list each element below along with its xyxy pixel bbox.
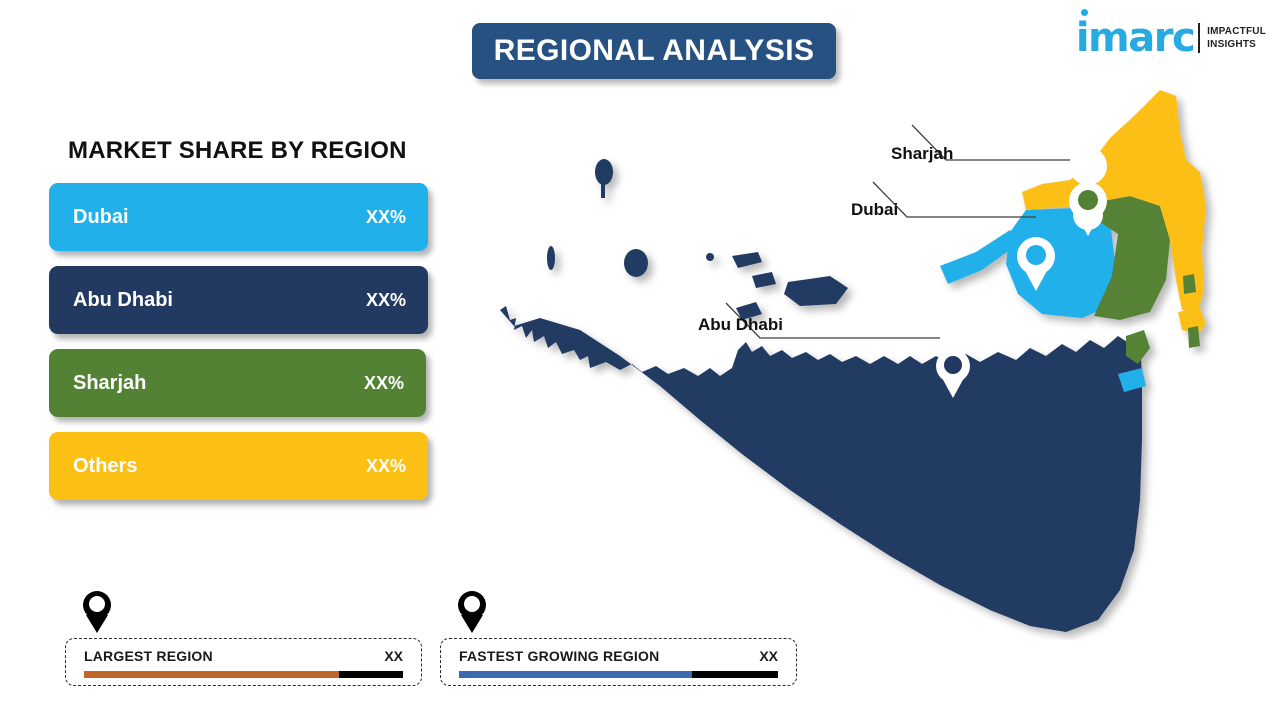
page-title-banner: REGIONAL ANALYSIS <box>472 23 836 79</box>
logo-dot-icon <box>1081 9 1088 16</box>
logo-divider <box>1198 23 1200 53</box>
location-pin-icon <box>456 590 488 634</box>
kpi-card[interactable]: FASTEST GROWING REGION XX <box>440 638 797 686</box>
kpi-fastest-growing-region: FASTEST GROWING REGION XX <box>440 638 797 686</box>
share-bar-value: XX% <box>366 207 406 228</box>
kpi-card[interactable]: LARGEST REGION XX <box>65 638 422 686</box>
logo-tagline-line1: IMPACTFUL <box>1207 25 1266 38</box>
share-bar-abu-dhabi[interactable]: Abu Dhabi XX% <box>49 266 428 334</box>
imarc-logo: imarc IMPACTFUL INSIGHTS <box>1076 16 1266 60</box>
share-bar-value: XX% <box>366 456 406 477</box>
map-pin-hole <box>1026 245 1046 265</box>
map-island <box>752 272 776 288</box>
logo-wordmark: imarc <box>1076 18 1194 58</box>
logo-wordmark-text: imarc <box>1076 15 1194 61</box>
share-bar-value: XX% <box>366 290 406 311</box>
kpi-progress-fill <box>459 671 692 678</box>
map-island <box>784 276 848 306</box>
map-enclave-sharjah <box>1188 326 1200 348</box>
share-bar-label: Abu Dhabi <box>73 289 366 312</box>
map-pin-hole <box>1078 190 1098 210</box>
map-label-sharjah: Sharjah <box>891 144 953 164</box>
map-region-abu-dhabi[interactable] <box>500 306 1142 632</box>
market-share-heading: MARKET SHARE BY REGION <box>68 137 407 165</box>
kpi-label: FASTEST GROWING REGION <box>459 648 659 664</box>
map-pin-hole <box>944 356 962 374</box>
share-bar-sharjah[interactable]: Sharjah XX% <box>49 349 426 417</box>
map-coast-strip <box>940 230 1018 284</box>
market-share-list: Dubai XX% Abu Dhabi XX% Sharjah XX% Othe… <box>49 183 439 515</box>
page-title: REGIONAL ANALYSIS <box>494 34 815 68</box>
kpi-progress-fill <box>84 671 339 678</box>
regional-analysis-slide: REGIONAL ANALYSIS imarc IMPACTFUL INSIGH… <box>0 0 1280 720</box>
map-island <box>706 253 714 261</box>
map-label-dubai: Dubai <box>851 200 898 220</box>
share-bar-label: Sharjah <box>73 372 364 395</box>
map-island <box>601 180 605 198</box>
kpi-progress-track <box>84 671 403 678</box>
uae-map <box>470 80 1230 640</box>
share-bar-label: Others <box>73 455 366 478</box>
map-island <box>624 249 648 277</box>
map-enclave-sharjah <box>1183 274 1196 294</box>
map-island <box>547 246 555 270</box>
kpi-largest-region: LARGEST REGION XX <box>65 638 422 686</box>
kpi-value: XX <box>759 648 778 664</box>
share-bar-label: Dubai <box>73 206 366 229</box>
kpi-progress-track <box>459 671 778 678</box>
logo-tagline-line2: INSIGHTS <box>1207 38 1266 51</box>
kpi-label: LARGEST REGION <box>84 648 213 664</box>
map-label-abu-dhabi: Abu Dhabi <box>698 315 783 335</box>
location-pin-icon <box>81 590 113 634</box>
logo-tagline: IMPACTFUL INSIGHTS <box>1207 25 1266 51</box>
share-bar-others[interactable]: Others XX% <box>49 432 428 500</box>
map-island <box>732 252 762 268</box>
kpi-value: XX <box>384 648 403 664</box>
share-bar-value: XX% <box>364 373 404 394</box>
share-bar-dubai[interactable]: Dubai XX% <box>49 183 428 251</box>
